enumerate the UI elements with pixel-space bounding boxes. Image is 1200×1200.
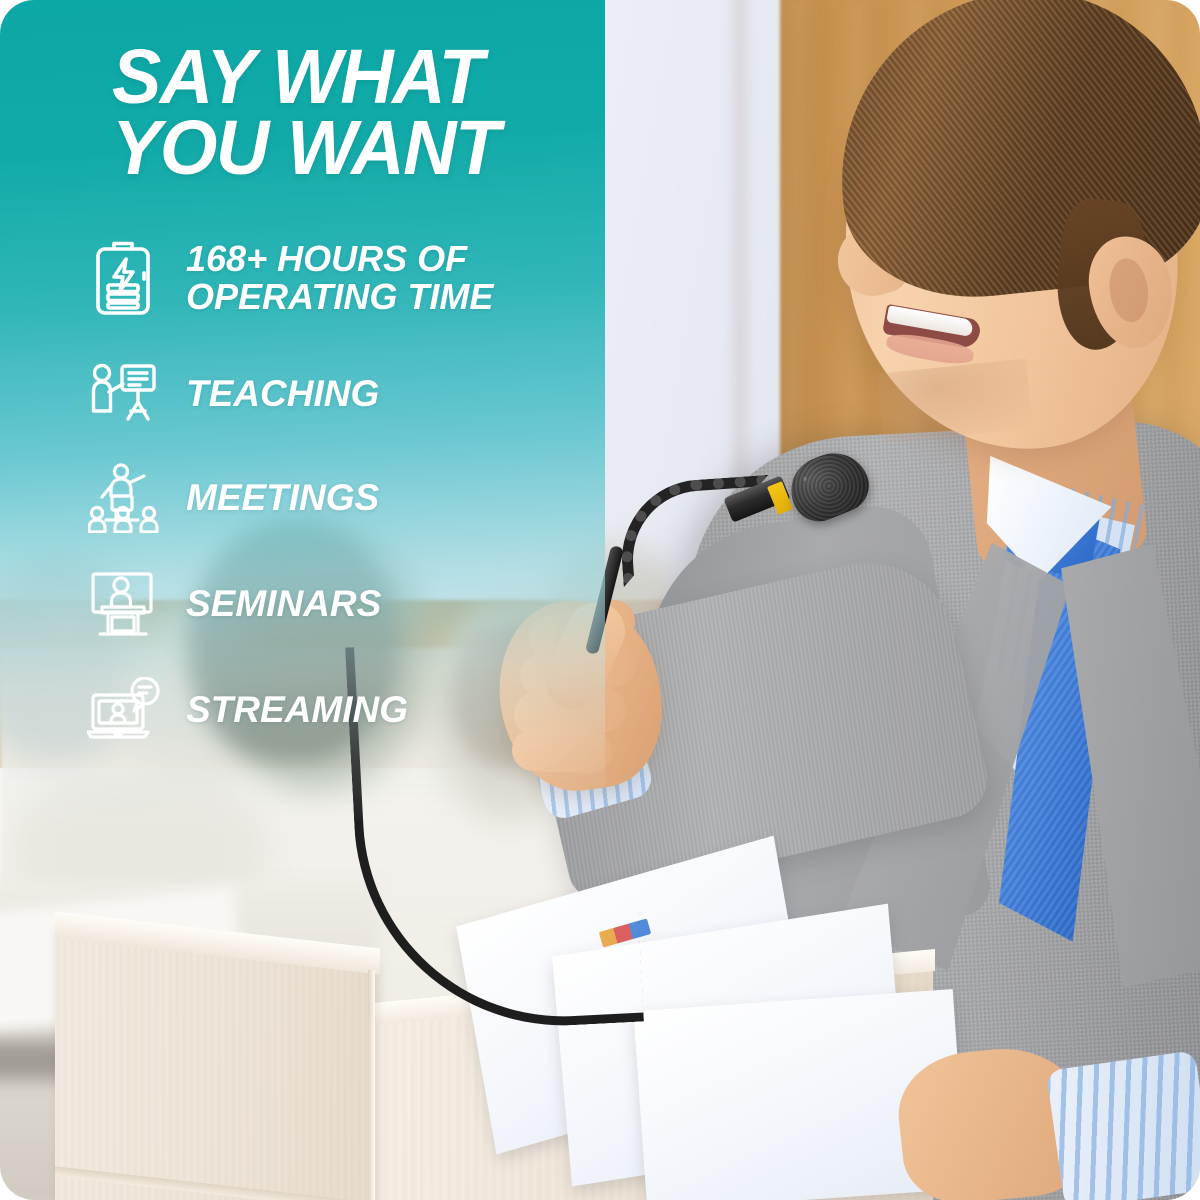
feature-item-teaching: TEACHING (86, 348, 606, 440)
page-title: SAY WHAT YOU WANT (112, 42, 563, 184)
microphone-windscreen (781, 443, 877, 530)
feature-item-streaming: STREAMING (86, 664, 606, 756)
feature-label-streaming: STREAMING (186, 690, 408, 729)
laptop-video-chat-icon (86, 668, 164, 752)
feature-label-line-1: 168+ HOURS OF (186, 238, 467, 279)
feature-label-meetings: MEETINGS (186, 478, 379, 517)
feature-label-teaching: TEACHING (186, 374, 379, 413)
feature-label-operating-time: 168+ HOURS OF OPERATING TIME (186, 240, 493, 316)
feature-label-line-2: OPERATING TIME (186, 276, 493, 317)
feature-item-meetings: MEETINGS (86, 452, 606, 544)
feature-label-seminars: SEMINARS (186, 584, 381, 623)
feature-list: 168+ HOURS OF OPERATING TIME TEACHING (86, 222, 606, 768)
lectern-screen-icon (86, 562, 164, 646)
teacher-whiteboard-icon (86, 352, 164, 436)
speaker-audience-icon (86, 456, 164, 540)
feature-item-operating-time: 168+ HOURS OF OPERATING TIME (86, 222, 606, 334)
headline-line-1: SAY WHAT (112, 42, 563, 113)
headline-line-2: YOU WANT (112, 113, 563, 184)
feature-item-seminars: SEMINARS (86, 558, 606, 650)
product-feature-card: SAY WHAT YOU WANT 168+ HOURS OF OPERATIN… (0, 0, 1200, 1200)
battery-charge-icon (86, 236, 164, 320)
